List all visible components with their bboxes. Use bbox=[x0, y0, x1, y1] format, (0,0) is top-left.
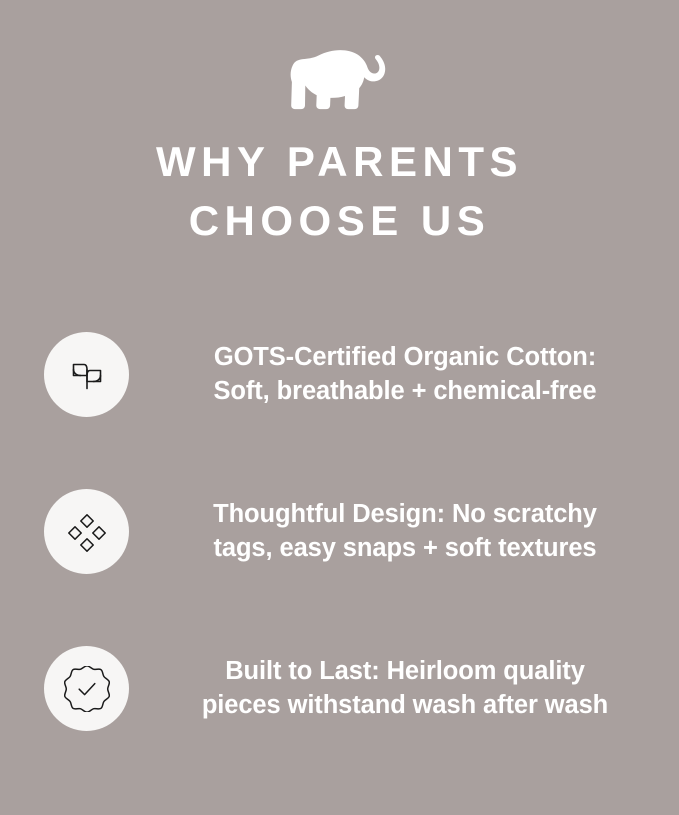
benefit-item: Built to Last: Heirloom quality pieces w… bbox=[0, 610, 679, 767]
brand-logo bbox=[0, 32, 679, 122]
why-parents-choose-us-poster: WHY PARENTS CHOOSE US bbox=[0, 0, 679, 815]
benefit-text-line-2: Soft, breathable + chemical-free bbox=[171, 375, 639, 409]
benefit-icon-badge bbox=[44, 489, 129, 574]
benefit-item: GOTS-Certified Organic Cotton: Soft, bre… bbox=[0, 296, 679, 453]
benefit-text-line-1: GOTS-Certified Organic Cotton: bbox=[171, 341, 639, 375]
benefit-text: Thoughtful Design: No scratchy tags, eas… bbox=[171, 498, 639, 566]
benefit-icon-badge bbox=[44, 646, 129, 731]
page-title: WHY PARENTS CHOOSE US bbox=[0, 133, 679, 251]
benefit-text-line-2: tags, easy snaps + soft textures bbox=[171, 532, 639, 566]
page-title-line-2: CHOOSE US bbox=[0, 192, 679, 251]
benefit-text: Built to Last: Heirloom quality pieces w… bbox=[171, 655, 639, 723]
benefit-item: Thoughtful Design: No scratchy tags, eas… bbox=[0, 453, 679, 610]
benefit-text-line-1: Built to Last: Heirloom quality bbox=[171, 655, 639, 689]
benefit-text-line-2: pieces withstand wash after wash bbox=[171, 689, 639, 723]
benefit-icon-badge bbox=[44, 332, 129, 417]
benefit-text: GOTS-Certified Organic Cotton: Soft, bre… bbox=[171, 341, 639, 409]
page-title-line-1: WHY PARENTS bbox=[0, 133, 679, 192]
scalloped-check-badge-icon bbox=[64, 666, 110, 712]
elephant-logo-icon bbox=[288, 41, 392, 113]
four-diamonds-icon bbox=[66, 511, 108, 553]
benefit-text-line-1: Thoughtful Design: No scratchy bbox=[171, 498, 639, 532]
benefits-list: GOTS-Certified Organic Cotton: Soft, bre… bbox=[0, 296, 679, 767]
sprout-leaf-icon bbox=[66, 354, 108, 396]
